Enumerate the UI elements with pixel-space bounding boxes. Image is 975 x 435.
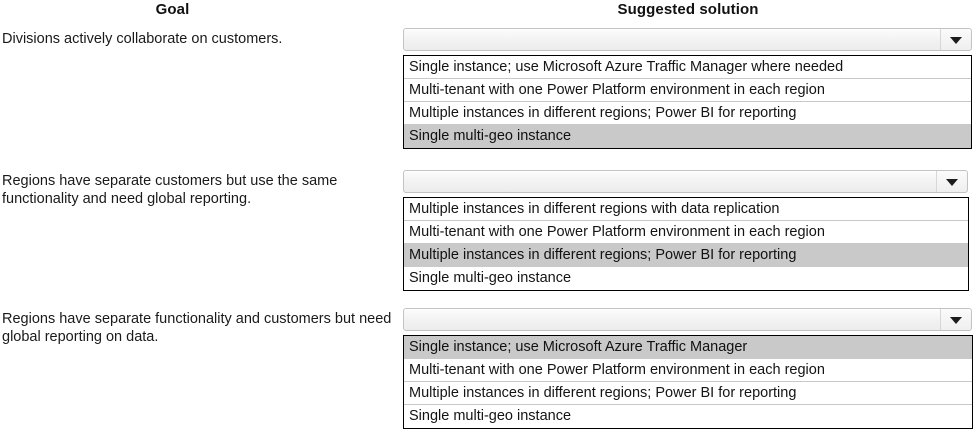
dropdown-option[interactable]: Multi-tenant with one Power Platform env… [404,221,968,244]
dropdown-option[interactable]: Multi-tenant with one Power Platform env… [404,79,971,102]
chevron-down-icon [950,317,962,324]
dropdown-option[interactable]: Multi-tenant with one Power Platform env… [404,359,972,382]
dropdown-option[interactable]: Single instance; use Microsoft Azure Tra… [404,56,971,79]
dropdown-toggle-button[interactable] [940,309,970,330]
goal-statement: Regions have separate customers but use … [2,172,392,208]
dropdown-option[interactable]: Multiple instances in different regions … [404,198,968,221]
dropdown-option[interactable]: Multiple instances in different regions;… [404,102,971,125]
question-group: Regions have separate functionality and … [0,308,975,435]
goal-statement: Divisions actively collaborate on custom… [2,30,392,48]
dropdown-toggle-button[interactable] [936,171,966,192]
dropdown-option[interactable]: Multiple instances in different regions;… [404,382,972,405]
column-header-row: Goal Suggested solution [0,0,975,22]
goal-statement: Regions have separate functionality and … [2,310,392,346]
question-group: Divisions actively collaborate on custom… [0,28,975,160]
dropdown-option[interactable]: Single instance; use Microsoft Azure Tra… [404,336,972,359]
dropdown-option[interactable]: Single multi-geo instance [404,267,968,290]
dropdown-option[interactable]: Multiple instances in different regions;… [404,244,968,267]
chevron-down-icon [950,37,962,44]
dropdown-option-list[interactable]: Multiple instances in different regions … [403,197,969,291]
solution-dropdown[interactable] [403,170,968,193]
chevron-down-icon [946,179,958,186]
question-group: Regions have separate customers but use … [0,170,975,298]
dropdown-option-list[interactable]: Single instance; use Microsoft Azure Tra… [403,55,972,149]
column-header-goal: Goal [0,1,345,18]
solution-dropdown[interactable] [403,28,972,51]
dropdown-option[interactable]: Single multi-geo instance [404,125,971,148]
dropdown-option-list[interactable]: Single instance; use Microsoft Azure Tra… [403,335,973,429]
column-header-suggested-solution: Suggested solution [403,1,973,18]
solution-dropdown[interactable] [403,308,972,331]
dropdown-option[interactable]: Single multi-geo instance [404,405,972,428]
dropdown-toggle-button[interactable] [940,29,970,50]
